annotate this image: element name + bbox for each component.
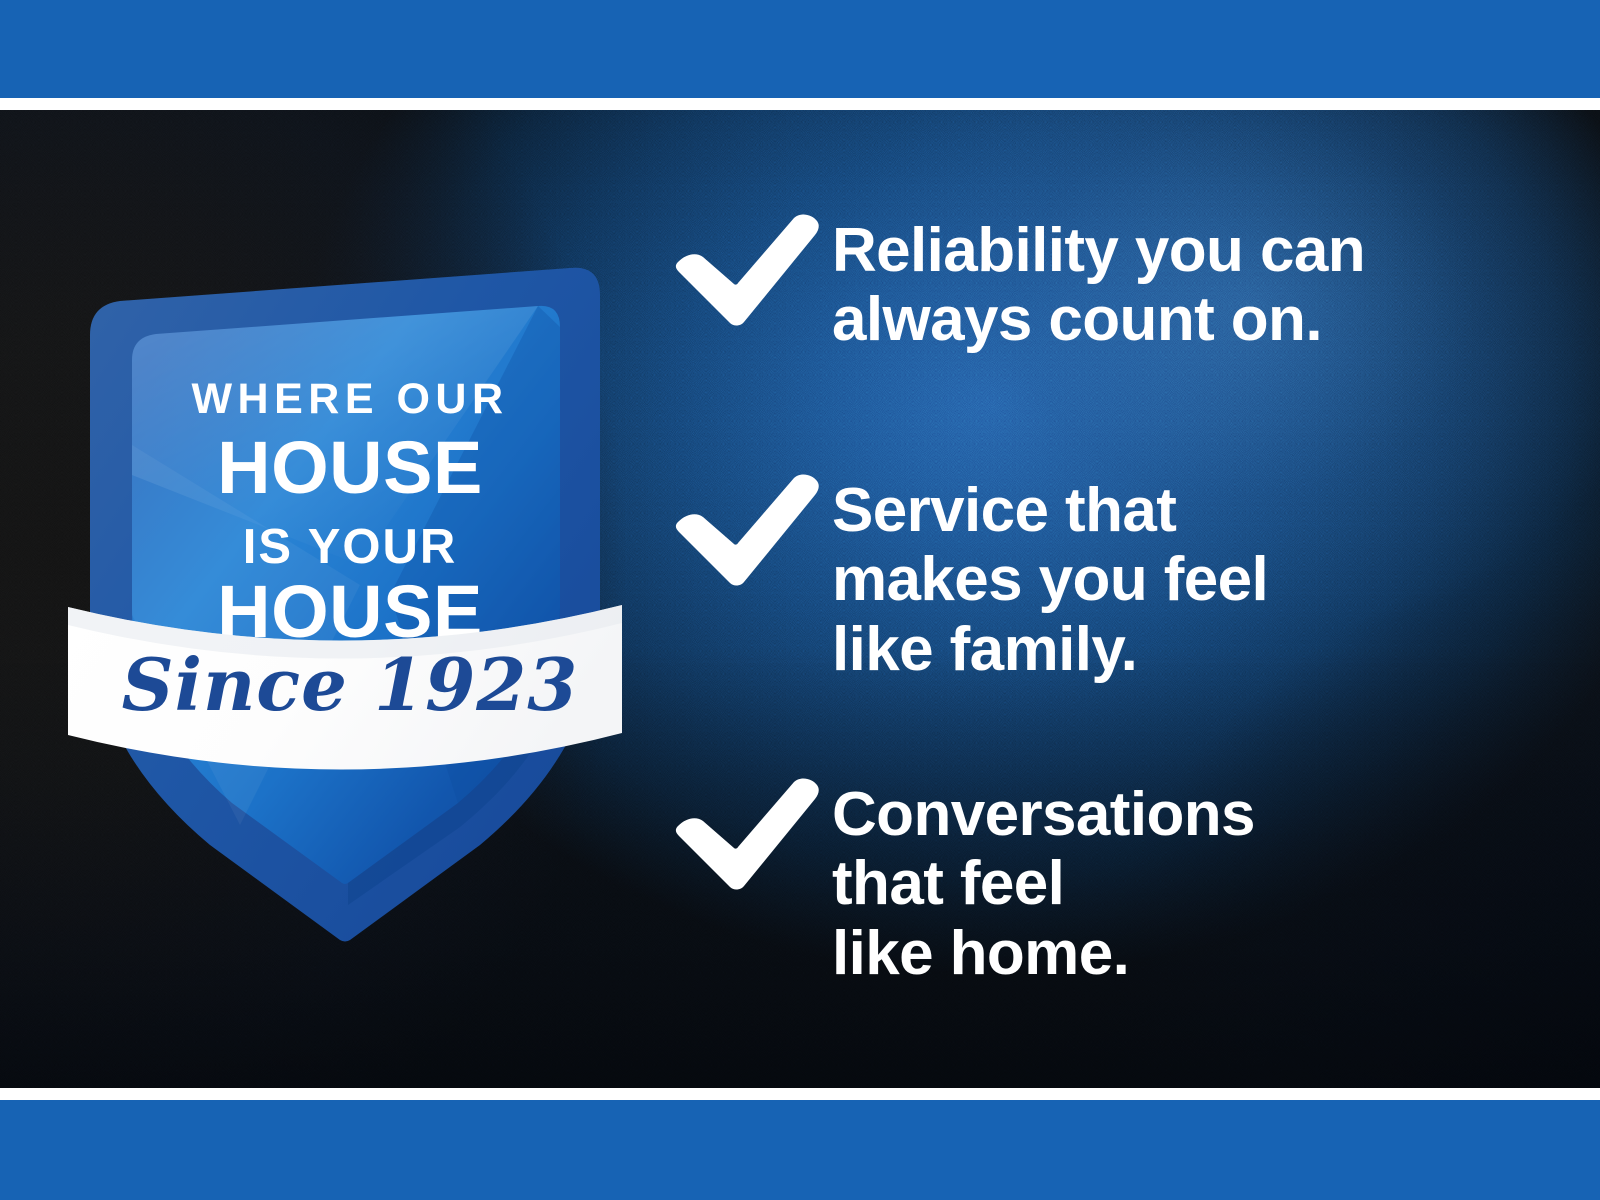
benefit-item: Reliability you can always count on. — [672, 212, 1532, 355]
badge-line-1: HOUSE — [217, 426, 483, 509]
benefit-item: Service that makes you feel like family. — [672, 472, 1532, 684]
benefit-text: Reliability you can always count on. — [832, 212, 1532, 355]
check-icon — [672, 212, 822, 330]
promo-graphic: WHERE OUR HOUSE IS YOUR HOUSE Since 1923… — [0, 0, 1600, 1200]
benefit-item: Conversations that feel like home. — [672, 776, 1532, 988]
benefit-text: Service that makes you feel like family. — [832, 472, 1532, 684]
top-brand-bar — [0, 0, 1600, 98]
badge-line-0: WHERE OUR — [191, 375, 508, 423]
shield-emblem: WHERE OUR HOUSE IS YOUR HOUSE Since 1923 — [60, 145, 630, 945]
benefit-text: Conversations that feel like home. — [832, 776, 1532, 988]
badge-line-2: IS YOUR — [243, 520, 458, 574]
benefits-list: Reliability you can always count on. Ser… — [672, 140, 1532, 1040]
check-icon — [672, 776, 822, 894]
check-icon — [672, 472, 822, 590]
bottom-brand-bar — [0, 1100, 1600, 1200]
badge-ribbon-text: Since 1923 — [122, 642, 579, 727]
